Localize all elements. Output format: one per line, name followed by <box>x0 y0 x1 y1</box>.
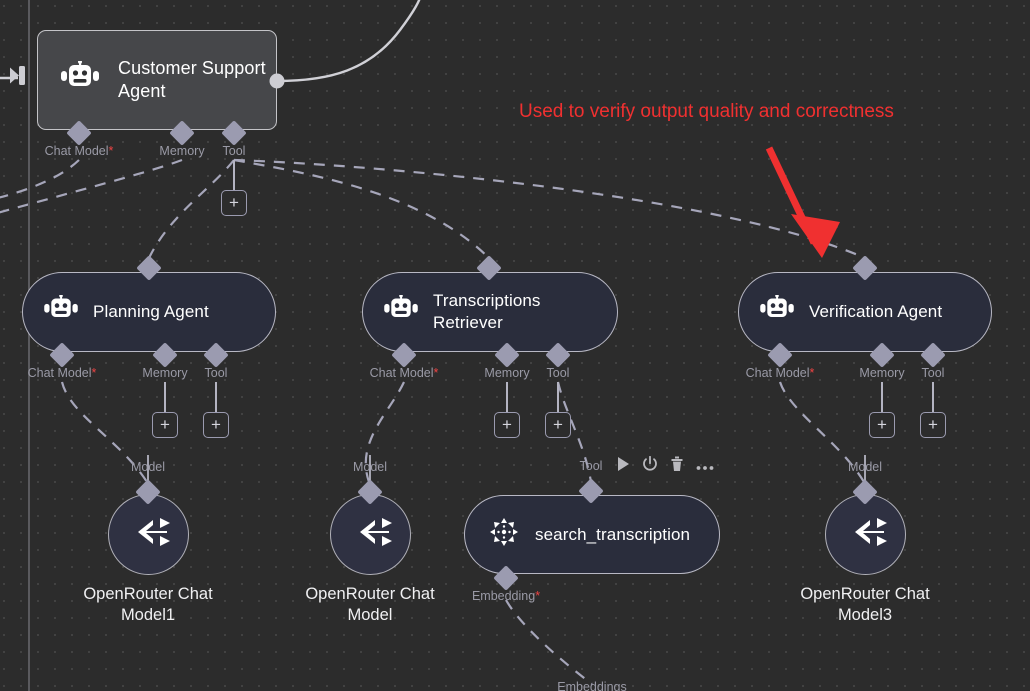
annotation-text: Used to verify output quality and correc… <box>519 101 894 123</box>
add-memory-button-planning-agent[interactable]: + <box>152 412 178 438</box>
openrouter-icon <box>844 512 888 557</box>
robot-icon <box>759 295 795 330</box>
edge-embedding-down <box>506 600 592 684</box>
port-label-memory-customer-support-agent: Memory <box>159 144 204 158</box>
canvas-left-rail <box>28 0 30 691</box>
node-verification-agent[interactable]: Verification Agent <box>738 272 992 352</box>
add-memory-button-verification-agent[interactable]: + <box>869 412 895 438</box>
node-transcriptions-retriever[interactable]: Transcriptions Retriever <box>362 272 618 352</box>
node-caption-openrouter-chat-model1: OpenRouter Chat Model1 <box>43 584 253 627</box>
robot-icon <box>43 295 79 330</box>
required-marker: * <box>535 589 540 603</box>
node-openrouter-chat-model3[interactable] <box>825 494 906 575</box>
output-connector-dot[interactable] <box>270 74 285 89</box>
vector-store-icon <box>487 515 521 554</box>
add-tool-button-verification-agent[interactable]: + <box>920 412 946 438</box>
required-marker: * <box>92 366 97 380</box>
node-title: Planning Agent <box>93 301 209 323</box>
node-openrouter-chat-model[interactable] <box>330 494 411 575</box>
power-icon[interactable] <box>642 456 658 477</box>
node-title: Customer Support Agent <box>118 57 276 103</box>
port-label-memory-verification-agent: Memory <box>859 366 904 380</box>
port-label-embedding-search-transcription: Embedding* <box>472 589 540 603</box>
port-label-model-openrouter-chat-model3: Model <box>848 460 882 474</box>
port-label-chat-model-verification-agent: Chat Model* <box>746 366 815 380</box>
add-memory-button-transcriptions-retriever[interactable]: + <box>494 412 520 438</box>
node-title: search_transcription <box>535 524 690 546</box>
port-label-memory-transcriptions-retriever: Memory <box>484 366 529 380</box>
node-caption-openrouter-chat-model3: OpenRouter Chat Model3 <box>760 584 970 627</box>
add-tool-button-planning-agent[interactable]: + <box>203 412 229 438</box>
port-label-memory-planning-agent: Memory <box>142 366 187 380</box>
port-label-tool-search-transcription: Tool <box>580 459 603 473</box>
node-caption-openrouter-chat-model: OpenRouter Chat Model <box>265 584 475 627</box>
node-toolbar-search-transcription[interactable] <box>616 456 714 477</box>
add-tool-button-customer-support-agent[interactable]: + <box>221 190 247 216</box>
required-marker: * <box>434 366 439 380</box>
port-label-chat-model-planning-agent: Chat Model* <box>28 366 97 380</box>
port-label-tool-planning-agent: Tool <box>205 366 228 380</box>
port-label-model-openrouter-chat-model: Model <box>353 460 387 474</box>
node-openrouter-chat-model1[interactable] <box>108 494 189 575</box>
red-arrow-head <box>791 214 840 258</box>
openrouter-icon <box>349 512 393 557</box>
node-search-transcription[interactable]: search_transcription <box>464 495 720 574</box>
node-title: Transcriptions Retriever <box>433 290 613 333</box>
required-marker: * <box>109 144 114 158</box>
edge-root-chatmodel <box>0 160 79 200</box>
port-label-model-openrouter-chat-model1: Model <box>131 460 165 474</box>
workflow-canvas[interactable]: Used to verify output quality and correc… <box>0 0 1030 691</box>
edge-tool-to-verification-agent <box>234 160 865 258</box>
port-label-chat-model-transcriptions-retriever: Chat Model* <box>370 366 439 380</box>
port-label-embeddings-bottom: Embeddings <box>557 680 627 691</box>
play-icon[interactable] <box>616 456 630 477</box>
port-label-chat-model-customer-support-agent: Chat Model* <box>45 144 114 158</box>
required-marker: * <box>810 366 815 380</box>
port-label-tool-verification-agent: Tool <box>922 366 945 380</box>
input-connector-arrow[interactable] <box>10 65 30 92</box>
node-customer-support-agent[interactable]: Customer Support Agent <box>37 30 277 130</box>
edge-tool-to-transcriptions-retriever <box>234 160 489 258</box>
red-arrow-shaft <box>769 148 814 243</box>
robot-icon <box>60 61 100 100</box>
node-planning-agent[interactable]: Planning Agent <box>22 272 276 352</box>
node-title: Verification Agent <box>809 301 942 323</box>
robot-icon <box>383 295 419 330</box>
port-label-tool-transcriptions-retriever: Tool <box>547 366 570 380</box>
edge-main-output <box>277 0 422 81</box>
port-label-tool-customer-support-agent: Tool <box>223 144 246 158</box>
trash-icon[interactable] <box>670 456 684 477</box>
openrouter-icon <box>127 512 171 557</box>
more-icon[interactable] <box>696 458 714 476</box>
add-tool-button-transcriptions-retriever[interactable]: + <box>545 412 571 438</box>
